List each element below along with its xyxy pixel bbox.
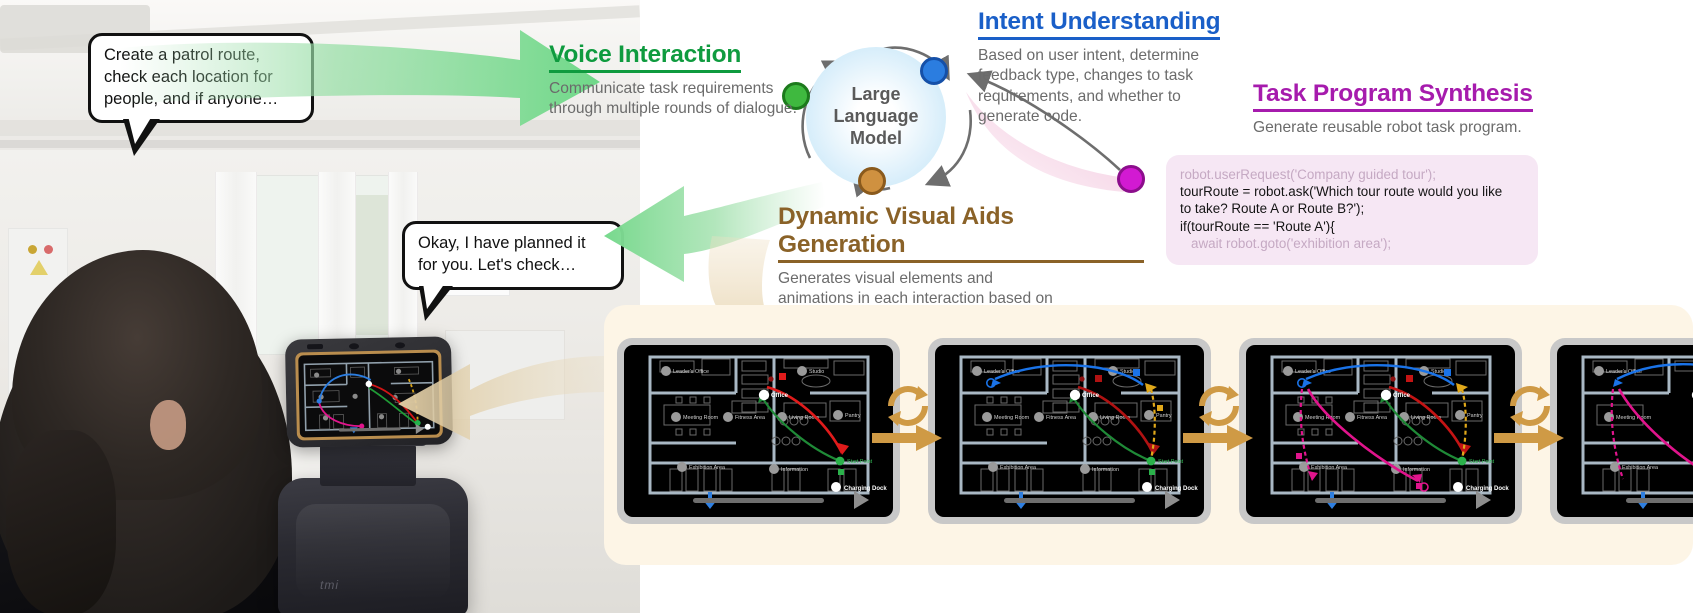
play-icon[interactable] (854, 491, 869, 509)
voice-interaction-block: Voice Interaction Communicate task requi… (549, 41, 797, 120)
robot-speech-bubble: Okay, I have planned it for you. Let's c… (402, 221, 624, 290)
svg-text:Office: Office (771, 393, 789, 399)
svg-text:Fitness Area: Fitness Area (735, 415, 765, 421)
intent-understanding-block: Intent Understanding Based on user inten… (978, 8, 1230, 128)
progress-track[interactable] (339, 427, 401, 431)
svg-text:Exhibition Area: Exhibition Area (1622, 465, 1658, 471)
warning-icon (30, 260, 48, 275)
panel-step-3[interactable]: Leader's OfficeStudio Meeting RoomFitnes… (1239, 338, 1522, 524)
svg-text:Studio: Studio (809, 369, 824, 375)
user-speech-bubble: Create a patrol route, check each locati… (88, 33, 314, 123)
task-program-synthesis-block: Task Program Synthesis Generate reusable… (1253, 80, 1543, 138)
svg-text:Start Point: Start Point (1158, 459, 1184, 465)
desk (445, 330, 565, 420)
intent-node[interactable] (920, 57, 948, 85)
panel-controls[interactable] (1566, 490, 1693, 510)
svg-text:Pantry: Pantry (845, 413, 861, 419)
cabinet-indicator (28, 245, 37, 254)
progress-track[interactable] (1626, 498, 1693, 503)
svg-text:Exhibition Area: Exhibition Area (1000, 465, 1036, 471)
play-icon[interactable] (1476, 491, 1491, 509)
code-line: tourRoute = robot.ask('Which tour route … (1180, 183, 1524, 200)
camera-icon (307, 344, 323, 349)
svg-text:Meeting Room: Meeting Room (994, 415, 1030, 421)
svg-text:Leader's Office: Leader's Office (673, 369, 709, 375)
generated-code-panel: robot.userRequest('Company guided tour')… (1166, 155, 1538, 265)
person-ponytail (6, 430, 116, 613)
bubble-tail (419, 286, 453, 321)
panel-step-4[interactable]: Leader's OfficeMeeting Room Exhibition A… (1550, 338, 1693, 524)
svg-text:Meeting Room: Meeting Room (1305, 415, 1341, 421)
llm-core-label: LargeLanguageModel (806, 84, 946, 150)
code-line: to take? Route A or Route B?'); (1180, 200, 1524, 217)
progress-track[interactable] (1004, 498, 1135, 503)
panel-step-2[interactable]: Leader's OfficeStudio Meeting RoomFitnes… (928, 338, 1211, 524)
intent-understanding-title: Intent Understanding (978, 8, 1220, 40)
svg-text:Meeting Room: Meeting Room (1616, 415, 1652, 421)
progress-track[interactable] (693, 498, 824, 503)
right-arrow-icon (872, 425, 942, 451)
dynamic-visual-aids-title: Dynamic Visual Aids Generation (778, 203, 1144, 263)
play-icon[interactable] (1165, 491, 1180, 509)
ceiling-beam (0, 120, 640, 136)
panel-step-1[interactable]: Leader's OfficeStudio Meeting RoomFitnes… (617, 338, 900, 524)
right-arrow-icon (1494, 425, 1564, 451)
svg-text:Pantry: Pantry (1467, 413, 1483, 419)
bubble-tail (123, 119, 160, 156)
code-line: robot.userRequest('Company guided tour')… (1180, 166, 1524, 183)
play-icon[interactable] (415, 423, 423, 433)
panel-controls[interactable] (1255, 490, 1506, 510)
svg-text:Start Point: Start Point (847, 459, 873, 465)
user-speech-text: Create a patrol route, check each locati… (104, 46, 278, 108)
visual-node[interactable] (858, 167, 886, 195)
intent-understanding-desc: Based on user intent, determine feedback… (978, 46, 1230, 128)
code-line: await robot.goto('exhibition area'); (1180, 235, 1524, 252)
svg-text:Information: Information (1403, 467, 1430, 473)
svg-text:Information: Information (781, 467, 808, 473)
svg-text:Office: Office (1082, 393, 1100, 399)
sensor-icon (349, 343, 359, 349)
voice-interaction-title: Voice Interaction (549, 41, 741, 73)
robot-logo: tmi (320, 578, 390, 594)
svg-text:Exhibition Area: Exhibition Area (1311, 465, 1347, 471)
person-ear (150, 400, 186, 450)
svg-text:Meeting Room: Meeting Room (683, 415, 719, 421)
progress-track[interactable] (1315, 498, 1446, 503)
robot-neck (320, 442, 416, 486)
robot-head (285, 336, 453, 447)
svg-text:Exhibition Area: Exhibition Area (689, 465, 725, 471)
panel-controls[interactable] (633, 490, 884, 510)
figure-root: tmi (0, 0, 1693, 613)
scene-photo: tmi (0, 0, 640, 613)
sensor-icon (395, 342, 405, 348)
svg-text:Pantry: Pantry (1156, 413, 1172, 419)
svg-text:Fitness Area: Fitness Area (1357, 415, 1387, 421)
voice-interaction-desc: Communicate task requirements through mu… (549, 79, 797, 120)
task-program-synthesis-desc: Generate reusable robot task program. (1253, 118, 1543, 138)
svg-text:Start Point: Start Point (1469, 459, 1495, 465)
code-line: if(tourRoute == 'Route A'){ (1180, 218, 1524, 235)
svg-text:Information: Information (1092, 467, 1119, 473)
svg-text:Office: Office (1393, 393, 1411, 399)
robot-speech-text: Okay, I have planned it for you. Let's c… (418, 234, 586, 274)
svg-text:Fitness Area: Fitness Area (1046, 415, 1076, 421)
right-arrow-icon (1183, 425, 1253, 451)
ceiling-beam (0, 140, 640, 148)
cabinet-indicator (44, 245, 53, 254)
task-node[interactable] (1117, 165, 1145, 193)
robot-tablet-screen[interactable] (298, 353, 440, 438)
robot-screen-bezel (295, 349, 443, 440)
task-program-synthesis-title: Task Program Synthesis (1253, 80, 1533, 112)
panel-controls[interactable] (944, 490, 1195, 510)
